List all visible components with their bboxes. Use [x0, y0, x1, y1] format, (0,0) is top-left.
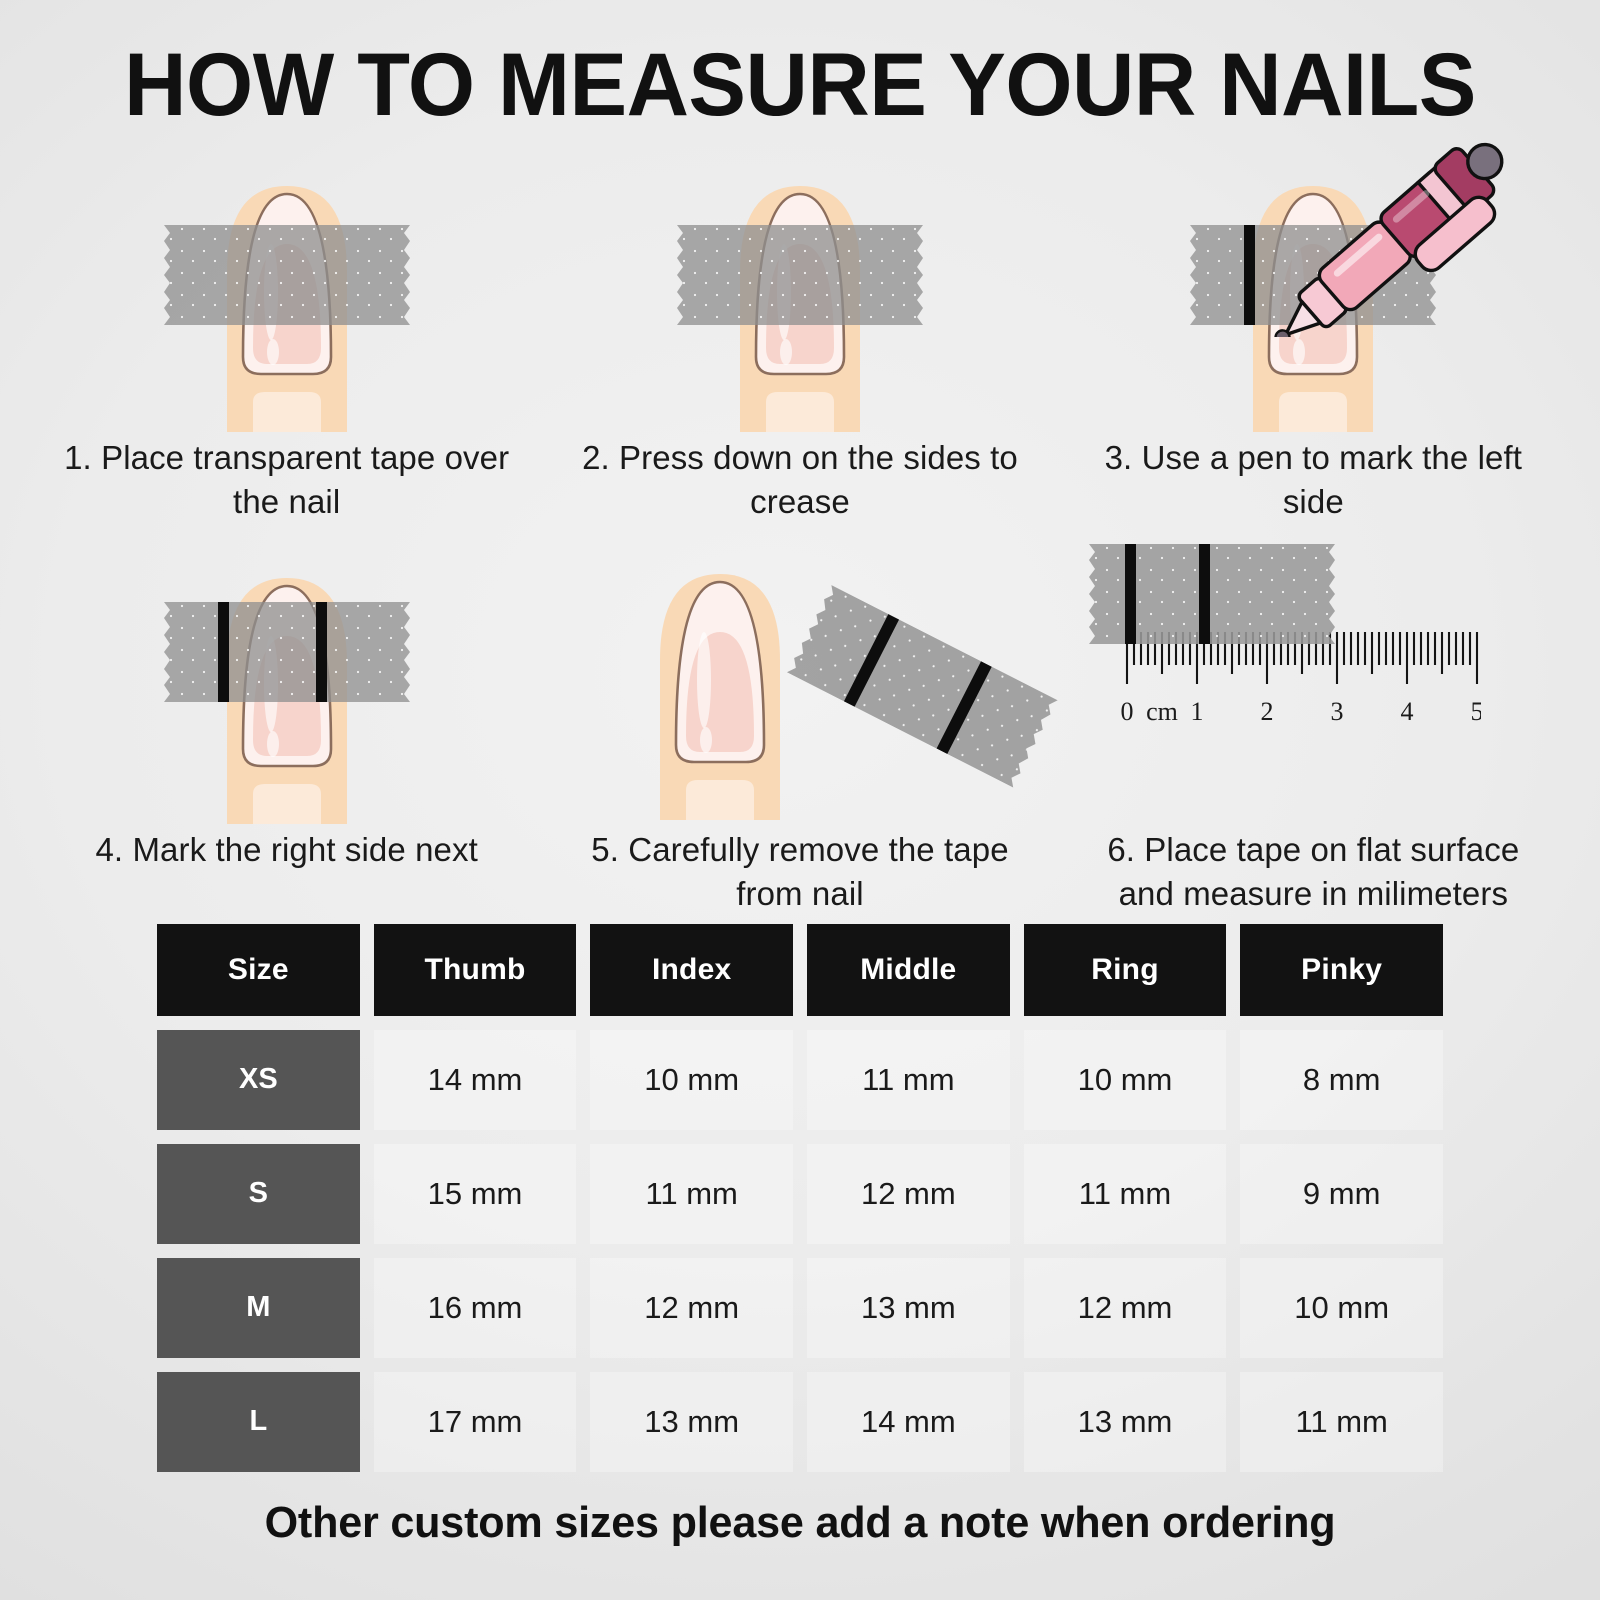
- table-cell: 9 mm: [1240, 1144, 1443, 1244]
- size-label-m: M: [157, 1258, 360, 1358]
- table-cell: 13 mm: [1024, 1372, 1227, 1472]
- table-cell: 11 mm: [1240, 1372, 1443, 1472]
- ruler-tick-2: 2: [1261, 697, 1274, 726]
- tape-strip-icon: [156, 225, 418, 325]
- table-cell: 12 mm: [807, 1144, 1010, 1244]
- pen-mark-icon: [1199, 544, 1210, 644]
- ruler-tick-3: 3: [1331, 697, 1344, 726]
- table-cell: 11 mm: [807, 1030, 1010, 1130]
- table-header-pinky: Pinky: [1240, 924, 1443, 1016]
- size-label-s: S: [157, 1144, 360, 1244]
- table-header-size: Size: [157, 924, 360, 1016]
- step-4-caption: 4. Mark the right side next: [95, 828, 477, 872]
- tape-strip-icon: [1081, 544, 1343, 644]
- step-6: 0 cm 1 2 3 4 5 6. Place tape on flat sur…: [1057, 524, 1570, 916]
- table-cell: 12 mm: [1024, 1258, 1227, 1358]
- size-label-xs: XS: [157, 1030, 360, 1130]
- step-6-caption: 6. Place tape on flat surface and measur…: [1078, 828, 1548, 916]
- step-5-illustration: [550, 524, 1050, 824]
- step-5: 5. Carefully remove the tape from nail: [543, 524, 1056, 916]
- table-header-thumb: Thumb: [374, 924, 577, 1016]
- table-cell: 13 mm: [807, 1258, 1010, 1358]
- finger-nail-icon: [646, 540, 794, 820]
- table-cell: 14 mm: [374, 1030, 577, 1130]
- tape-strip-icon: [780, 581, 1065, 791]
- step-3-illustration: [1063, 147, 1563, 432]
- step-1: 1. Place transparent tape over the nail: [30, 147, 543, 524]
- table-cell: 12 mm: [590, 1258, 793, 1358]
- table-cell: 14 mm: [807, 1372, 1010, 1472]
- table-header-index: Index: [590, 924, 793, 1016]
- pen-mark-icon: [1244, 225, 1255, 325]
- table-header-ring: Ring: [1024, 924, 1227, 1016]
- table-cell: 17 mm: [374, 1372, 577, 1472]
- table-cell: 15 mm: [374, 1144, 577, 1244]
- table-cell: 11 mm: [590, 1144, 793, 1244]
- size-label-l: L: [157, 1372, 360, 1472]
- step-1-illustration: [37, 147, 537, 432]
- table-cell: 16 mm: [374, 1258, 577, 1358]
- step-2: 2. Press down on the sides to crease: [543, 147, 1056, 524]
- pen-icon: [1273, 137, 1523, 337]
- ruler-tick-5: 5: [1471, 697, 1482, 726]
- table-cell: 11 mm: [1024, 1144, 1227, 1244]
- step-5-caption: 5. Carefully remove the tape from nail: [565, 828, 1035, 916]
- step-2-illustration: [550, 147, 1050, 432]
- step-6-illustration: 0 cm 1 2 3 4 5: [1063, 524, 1563, 824]
- step-1-caption: 1. Place transparent tape over the nail: [52, 436, 522, 524]
- ruler-tick-1: 1: [1191, 697, 1204, 726]
- step-2-caption: 2. Press down on the sides to crease: [565, 436, 1035, 524]
- tape-strip-icon: [669, 225, 931, 325]
- ruler-tick-0: 0: [1121, 697, 1134, 726]
- page-title: HOW TO MEASURE YOUR NAILS: [24, 0, 1576, 129]
- size-chart-table: Size Thumb Index Middle Ring Pinky XS 14…: [157, 924, 1443, 1472]
- tape-strip-icon: [156, 602, 418, 702]
- step-4-illustration: [37, 524, 537, 824]
- step-4: 4. Mark the right side next: [30, 524, 543, 916]
- pen-mark-icon: [1125, 544, 1136, 644]
- table-cell: 13 mm: [590, 1372, 793, 1472]
- pen-mark-icon: [316, 602, 327, 702]
- table-cell: 8 mm: [1240, 1030, 1443, 1130]
- table-cell: 10 mm: [590, 1030, 793, 1130]
- footer-note: Other custom sizes please add a note whe…: [16, 1498, 1584, 1548]
- ruler-icon: 0 cm 1 2 3 4 5: [1101, 632, 1481, 742]
- step-3-caption: 3. Use a pen to mark the left side: [1078, 436, 1548, 524]
- table-cell: 10 mm: [1240, 1258, 1443, 1358]
- pen-mark-icon: [218, 602, 229, 702]
- table-header-middle: Middle: [807, 924, 1010, 1016]
- ruler-tick-4: 4: [1401, 697, 1414, 726]
- steps-grid: 1. Place transparent tape over the nail: [30, 147, 1570, 916]
- table-cell: 10 mm: [1024, 1030, 1227, 1130]
- ruler-unit-label: cm: [1146, 697, 1178, 726]
- step-3: 3. Use a pen to mark the left side: [1057, 147, 1570, 524]
